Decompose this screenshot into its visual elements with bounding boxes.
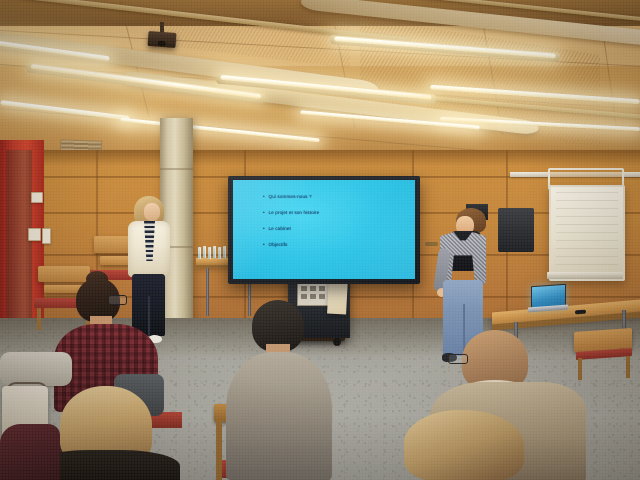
photo-scene: • Qui sommes-nous ? • Le projet et son h… bbox=[0, 0, 640, 480]
slide-bullet-text: Le cabinet bbox=[269, 226, 291, 231]
slide-bullet-list: • Qui sommes-nous ? • Le projet et son h… bbox=[263, 194, 407, 258]
bullet-marker: • bbox=[263, 210, 266, 215]
head bbox=[404, 410, 524, 480]
slide-bullet-text: Objectifs bbox=[269, 242, 288, 247]
table-leg bbox=[206, 268, 209, 316]
projector-lens bbox=[157, 40, 166, 46]
bullet-marker: • bbox=[263, 194, 266, 199]
leg bbox=[0, 352, 72, 386]
presentation-display[interactable]: • Qui sommes-nous ? • Le projet et son h… bbox=[228, 176, 420, 284]
slide-bullet: • Qui sommes-nous ? bbox=[263, 194, 407, 199]
slide-bullet: • Objectifs bbox=[263, 242, 407, 247]
glasses bbox=[448, 354, 468, 364]
slide-bullet: • Le projet et son histoire bbox=[263, 210, 407, 215]
audience-member bbox=[0, 424, 60, 480]
slide-content: • Qui sommes-nous ? • Le projet et son h… bbox=[233, 180, 415, 279]
flipchart-tray bbox=[547, 272, 623, 279]
phone[interactable] bbox=[575, 310, 586, 315]
bullet-marker: • bbox=[263, 226, 266, 231]
ceiling-light bbox=[120, 118, 319, 143]
slide-bullet-text: Qui sommes-nous ? bbox=[269, 194, 312, 199]
audience-member bbox=[404, 410, 534, 480]
ceiling bbox=[0, 0, 640, 168]
face bbox=[144, 203, 160, 221]
flipchart[interactable] bbox=[549, 185, 625, 281]
light-switch[interactable] bbox=[31, 192, 43, 203]
slide-bullet: • Le cabinet bbox=[263, 226, 407, 231]
bullet-marker: • bbox=[263, 242, 266, 247]
grey-top bbox=[226, 352, 332, 480]
glasses bbox=[108, 295, 127, 305]
av-equipment-box bbox=[498, 208, 534, 252]
projector bbox=[148, 31, 177, 48]
door[interactable] bbox=[6, 150, 32, 335]
slide-bullet-text: Le projet et son histoire bbox=[269, 210, 320, 215]
audience-member bbox=[222, 300, 334, 480]
